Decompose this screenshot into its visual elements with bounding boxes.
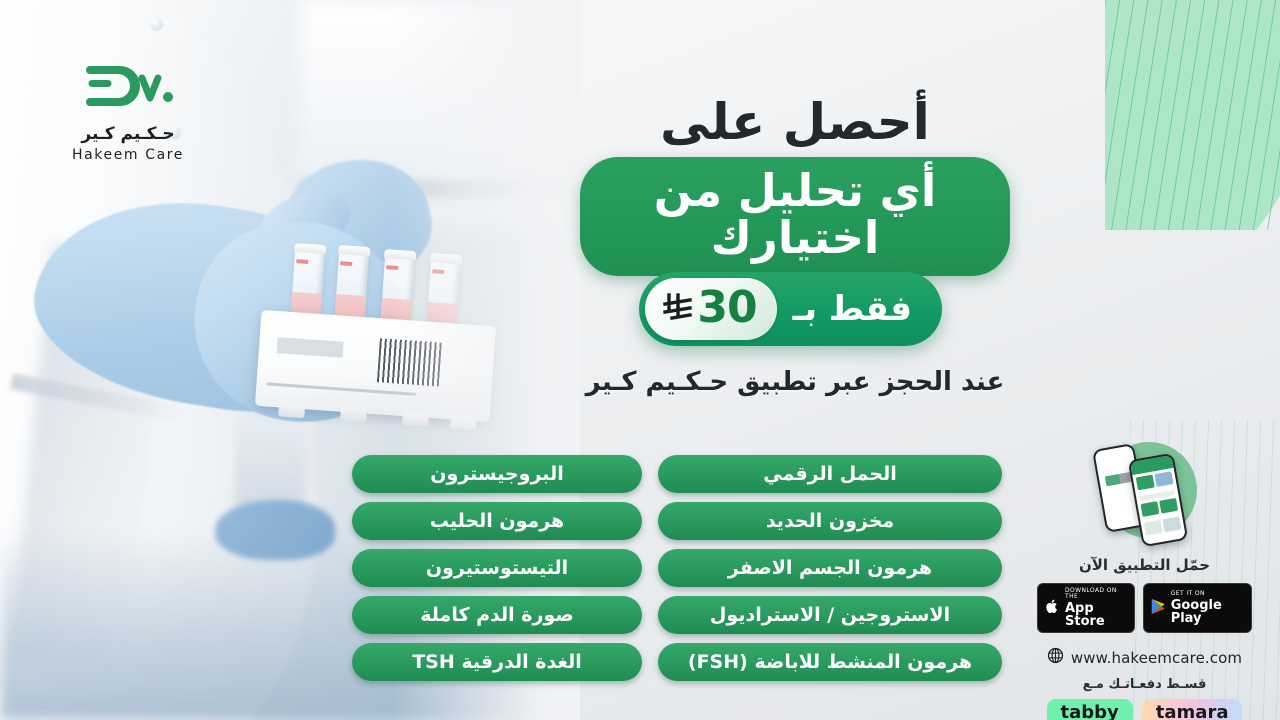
saudi-riyal-icon (663, 292, 693, 324)
website-row[interactable]: www.hakeemcare.com (1037, 647, 1252, 668)
test-column-left: البروجيسترون هرمون الحليب التيستوستيرون … (352, 455, 642, 681)
headline-block: أحصل على أي تحليل من اختيارك (580, 96, 1010, 276)
brand-name-arabic: حـكـيم كـير (58, 124, 198, 144)
price-amount: 30 (697, 286, 756, 330)
test-button[interactable]: هرمون الجسم الاصفر (658, 549, 1002, 587)
apple-icon (1045, 598, 1060, 619)
test-column-right: الحمل الرقمي مخزون الحديد هرمون الجسم ال… (658, 455, 1002, 681)
google-play-badge[interactable]: GET IT ON Google Play (1143, 583, 1252, 633)
hakeem-care-logo-mark (80, 58, 176, 114)
tamara-logo[interactable]: tamara (1142, 699, 1243, 720)
globe-icon (1047, 647, 1064, 668)
app-store-badge[interactable]: Download on the App Store (1037, 583, 1135, 633)
decorative-stripes-top-right (1105, 0, 1280, 230)
test-button[interactable]: الحمل الرقمي (658, 455, 1002, 493)
test-button[interactable]: البروجيسترون (352, 455, 642, 493)
tabby-logo[interactable]: tabby (1047, 699, 1133, 720)
price-chip: 30 (645, 278, 776, 340)
website-url[interactable]: www.hakeemcare.com (1071, 649, 1242, 667)
test-button[interactable]: الاستروجين / الاستراديول (658, 596, 1002, 634)
store-badges: GET IT ON Google Play Download on the Ap… (1037, 583, 1252, 633)
test-button[interactable]: هرمون الحليب (352, 502, 642, 540)
test-button[interactable]: مخزون الحديد (658, 502, 1002, 540)
headline-line-1: أحصل على (580, 96, 1010, 149)
headline-line-2: أي تحليل من اختيارك (580, 157, 1010, 276)
price-label: فقط بـ (777, 289, 916, 329)
download-app-label: حمّل التطبيق الآن (1037, 556, 1252, 574)
google-play-label: Google Play (1171, 599, 1242, 625)
test-button[interactable]: صورة الدم كاملة (352, 596, 642, 634)
test-button[interactable]: هرمون المنشط للاباضة (FSH) (658, 643, 1002, 681)
test-button[interactable]: الغدة الدرقية TSH (352, 643, 642, 681)
app-promo-panel: حمّل التطبيق الآن GET IT ON Google Play (1037, 436, 1252, 720)
app-store-label: App Store (1065, 602, 1125, 628)
advertisement-canvas: حـكـيم كـير Hakeem Care أحصل على أي تحلي… (0, 0, 1280, 720)
app-phone-mockup (1085, 436, 1205, 544)
brand-name-english: Hakeem Care (58, 147, 198, 163)
brand-logo: حـكـيم كـير Hakeem Care (58, 58, 198, 163)
test-list: الحمل الرقمي مخزون الحديد هرمون الجسم ال… (352, 455, 1002, 681)
booking-subline: عند الحجز عبر تطبيق حـكـيم كـير (580, 367, 1010, 397)
payment-logos: tamara tabby (1037, 699, 1252, 720)
test-button[interactable]: التيستوستيرون (352, 549, 642, 587)
app-store-small-text: Download on the (1065, 588, 1125, 600)
google-play-icon (1151, 598, 1166, 619)
installments-label: قسـط دفعـاتـك مـع (1037, 677, 1252, 692)
price-badge: فقط بـ 30 (639, 272, 942, 346)
google-play-small-text: GET IT ON (1171, 591, 1242, 597)
